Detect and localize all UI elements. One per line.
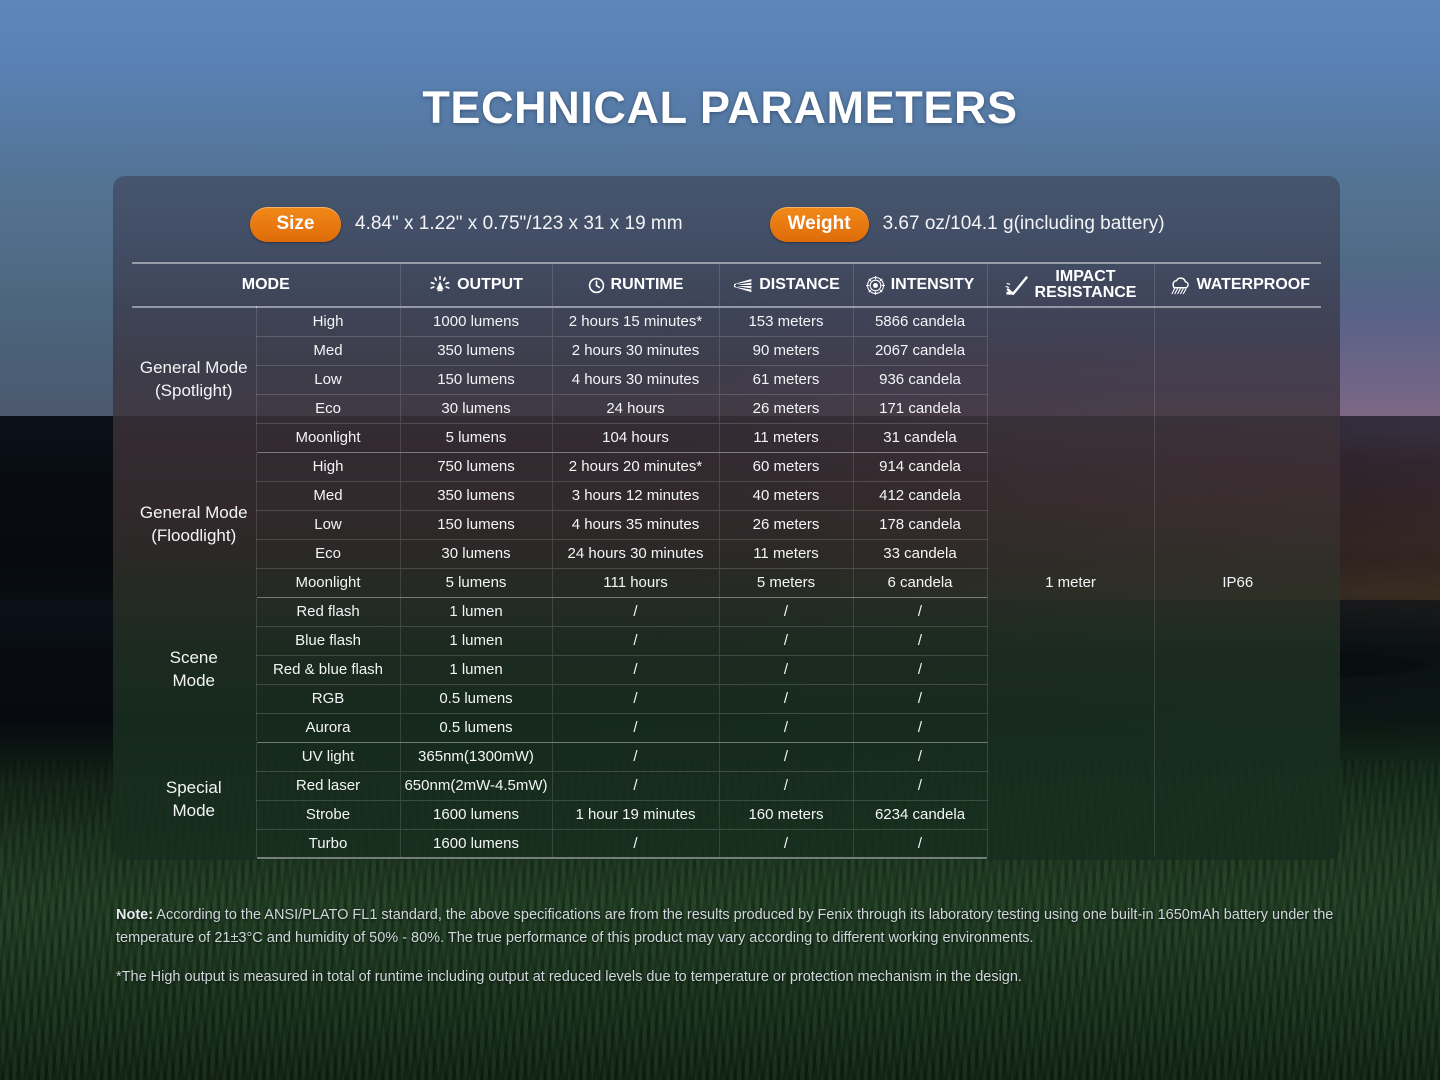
- intensity-cell: /: [853, 713, 987, 742]
- intensity-cell: 171 candela: [853, 394, 987, 423]
- header-label-output: OUTPUT: [457, 276, 523, 294]
- runtime-cell: /: [552, 626, 719, 655]
- submode-cell: Eco: [256, 539, 400, 568]
- output-cell: 1600 lumens: [400, 829, 552, 858]
- spec-panel: Size 4.84" x 1.22" x 0.75"/123 x 31 x 19…: [113, 176, 1340, 860]
- output-cell: 1600 lumens: [400, 800, 552, 829]
- distance-cell: 60 meters: [719, 452, 853, 481]
- distance-cell: 26 meters: [719, 510, 853, 539]
- distance-cell: 5 meters: [719, 568, 853, 597]
- technical-parameters-table: MODE: [132, 262, 1321, 859]
- runtime-cell: 2 hours 20 minutes*: [552, 452, 719, 481]
- target-icon: [866, 276, 885, 295]
- runtime-cell: 2 hours 30 minutes: [552, 336, 719, 365]
- weight-badge: Weight: [770, 207, 869, 242]
- mode-group-label: General Mode(Floodlight): [132, 452, 256, 597]
- output-cell: 1 lumen: [400, 597, 552, 626]
- distance-cell: 153 meters: [719, 307, 853, 336]
- column-header-mode: MODE: [132, 263, 400, 307]
- page-title: TECHNICAL PARAMETERS: [0, 82, 1440, 134]
- mode-group-label: General Mode(Spotlight): [132, 307, 256, 452]
- distance-cell: /: [719, 771, 853, 800]
- intensity-cell: /: [853, 655, 987, 684]
- intensity-cell: 936 candela: [853, 365, 987, 394]
- runtime-cell: 111 hours: [552, 568, 719, 597]
- column-header-impact-resistance: IMPACT RESISTANCE: [987, 263, 1154, 307]
- note-asterisk: *The High output is measured in total of…: [116, 966, 1376, 989]
- header-label-runtime: RUNTIME: [611, 276, 684, 294]
- distance-cell: /: [719, 829, 853, 858]
- header-label-impact-resistance: IMPACT RESISTANCE: [1035, 269, 1137, 302]
- header-label-impact-line1: IMPACT: [1055, 268, 1115, 285]
- runtime-cell: 2 hours 15 minutes*: [552, 307, 719, 336]
- output-cell: 5 lumens: [400, 568, 552, 597]
- output-cell: 0.5 lumens: [400, 684, 552, 713]
- table-row: General Mode(Spotlight)High1000 lumens2 …: [132, 307, 1321, 336]
- intensity-cell: 412 candela: [853, 481, 987, 510]
- table-body: General Mode(Spotlight)High1000 lumens2 …: [132, 307, 1321, 858]
- spec-summary-strip: Size 4.84" x 1.22" x 0.75"/123 x 31 x 19…: [113, 200, 1340, 248]
- distance-cell: 160 meters: [719, 800, 853, 829]
- beam-cone-icon: [732, 278, 753, 293]
- runtime-cell: /: [552, 713, 719, 742]
- runtime-cell: 1 hour 19 minutes: [552, 800, 719, 829]
- distance-cell: /: [719, 742, 853, 771]
- runtime-cell: /: [552, 684, 719, 713]
- intensity-cell: /: [853, 626, 987, 655]
- output-cell: 1 lumen: [400, 626, 552, 655]
- header-label-mode: MODE: [242, 276, 290, 294]
- mode-group-line2: (Spotlight): [155, 381, 232, 400]
- intensity-cell: 914 candela: [853, 452, 987, 481]
- note-label: Note:: [116, 907, 153, 923]
- submode-cell: Red flash: [256, 597, 400, 626]
- submode-cell: UV light: [256, 742, 400, 771]
- runtime-cell: 24 hours 30 minutes: [552, 539, 719, 568]
- distance-cell: /: [719, 597, 853, 626]
- runtime-cell: 24 hours: [552, 394, 719, 423]
- column-header-intensity: INTENSITY: [853, 263, 987, 307]
- output-cell: 350 lumens: [400, 336, 552, 365]
- intensity-cell: 178 candela: [853, 510, 987, 539]
- mode-group-line2: Mode: [172, 671, 215, 690]
- size-badge: Size: [250, 207, 341, 242]
- runtime-cell: 4 hours 35 minutes: [552, 510, 719, 539]
- output-cell: 5 lumens: [400, 423, 552, 452]
- waterproof-value: IP66: [1154, 307, 1321, 858]
- header-label-impact-line2: RESISTANCE: [1035, 284, 1137, 301]
- intensity-cell: /: [853, 771, 987, 800]
- output-cell: 30 lumens: [400, 394, 552, 423]
- submode-cell: Med: [256, 481, 400, 510]
- submode-cell: Aurora: [256, 713, 400, 742]
- submode-cell: Turbo: [256, 829, 400, 858]
- mode-group-line2: Mode: [172, 801, 215, 820]
- submode-cell: Moonlight: [256, 568, 400, 597]
- intensity-cell: 33 candela: [853, 539, 987, 568]
- distance-cell: 61 meters: [719, 365, 853, 394]
- output-cell: 750 lumens: [400, 452, 552, 481]
- runtime-cell: /: [552, 771, 719, 800]
- size-value: 4.84" x 1.22" x 0.75"/123 x 31 x 19 mm: [355, 213, 683, 235]
- spec-size: Size 4.84" x 1.22" x 0.75"/123 x 31 x 19…: [250, 207, 683, 242]
- submode-cell: Red laser: [256, 771, 400, 800]
- mode-group-label: SceneMode: [132, 597, 256, 742]
- intensity-cell: 6234 candela: [853, 800, 987, 829]
- column-header-output: OUTPUT: [400, 263, 552, 307]
- submode-cell: Moonlight: [256, 423, 400, 452]
- distance-cell: 90 meters: [719, 336, 853, 365]
- rain-cloud-icon: [1166, 276, 1191, 295]
- impact-resistance-value: 1 meter: [987, 307, 1154, 858]
- clock-icon: [588, 277, 605, 294]
- submode-cell: Blue flash: [256, 626, 400, 655]
- output-cell: 1 lumen: [400, 655, 552, 684]
- intensity-cell: /: [853, 829, 987, 858]
- runtime-cell: /: [552, 597, 719, 626]
- submode-cell: Low: [256, 510, 400, 539]
- submode-cell: RGB: [256, 684, 400, 713]
- table-header-row: MODE: [132, 263, 1321, 307]
- runtime-cell: 4 hours 30 minutes: [552, 365, 719, 394]
- mode-group-line1: General Mode: [140, 358, 248, 377]
- submode-cell: High: [256, 307, 400, 336]
- column-header-runtime: RUNTIME: [552, 263, 719, 307]
- submode-cell: Med: [256, 336, 400, 365]
- runtime-cell: /: [552, 829, 719, 858]
- distance-cell: /: [719, 655, 853, 684]
- intensity-cell: 31 candela: [853, 423, 987, 452]
- column-header-distance: DISTANCE: [719, 263, 853, 307]
- column-header-waterproof: WATERPROOF: [1154, 263, 1321, 307]
- distance-cell: 11 meters: [719, 423, 853, 452]
- output-cell: 365nm(1300mW): [400, 742, 552, 771]
- runtime-cell: 3 hours 12 minutes: [552, 481, 719, 510]
- output-cell: 650nm(2mW-4.5mW): [400, 771, 552, 800]
- runtime-cell: /: [552, 655, 719, 684]
- mode-group-line1: Special: [166, 778, 222, 797]
- submode-cell: Strobe: [256, 800, 400, 829]
- submode-cell: Eco: [256, 394, 400, 423]
- distance-cell: /: [719, 684, 853, 713]
- intensity-cell: 2067 candela: [853, 336, 987, 365]
- runtime-cell: 104 hours: [552, 423, 719, 452]
- header-label-distance: DISTANCE: [759, 276, 840, 294]
- header-label-waterproof: WATERPROOF: [1197, 276, 1310, 294]
- impact-check-icon: [1005, 275, 1029, 295]
- output-cell: 350 lumens: [400, 481, 552, 510]
- intensity-cell: 5866 candela: [853, 307, 987, 336]
- mode-group-line2: (Floodlight): [151, 526, 236, 545]
- spec-weight: Weight 3.67 oz/104.1 g(including battery…: [770, 207, 1165, 242]
- intensity-cell: 6 candela: [853, 568, 987, 597]
- output-cell: 150 lumens: [400, 365, 552, 394]
- weight-value: 3.67 oz/104.1 g(including battery): [883, 213, 1165, 235]
- intensity-cell: /: [853, 684, 987, 713]
- output-cell: 30 lumens: [400, 539, 552, 568]
- distance-cell: 11 meters: [719, 539, 853, 568]
- header-label-intensity: INTENSITY: [891, 276, 975, 294]
- mode-group-line1: Scene: [170, 648, 218, 667]
- mode-group-label: SpecialMode: [132, 742, 256, 858]
- footnotes: Note: According to the ANSI/PLATO FL1 st…: [116, 904, 1376, 989]
- intensity-cell: /: [853, 597, 987, 626]
- distance-cell: /: [719, 626, 853, 655]
- flash-burst-icon: [429, 276, 451, 294]
- distance-cell: 26 meters: [719, 394, 853, 423]
- note-body: According to the ANSI/PLATO FL1 standard…: [116, 907, 1333, 946]
- intensity-cell: /: [853, 742, 987, 771]
- mode-group-line1: General Mode: [140, 503, 248, 522]
- submode-cell: Low: [256, 365, 400, 394]
- distance-cell: /: [719, 713, 853, 742]
- distance-cell: 40 meters: [719, 481, 853, 510]
- submode-cell: High: [256, 452, 400, 481]
- submode-cell: Red & blue flash: [256, 655, 400, 684]
- output-cell: 150 lumens: [400, 510, 552, 539]
- runtime-cell: /: [552, 742, 719, 771]
- output-cell: 1000 lumens: [400, 307, 552, 336]
- output-cell: 0.5 lumens: [400, 713, 552, 742]
- note-main: Note: According to the ANSI/PLATO FL1 st…: [116, 904, 1376, 951]
